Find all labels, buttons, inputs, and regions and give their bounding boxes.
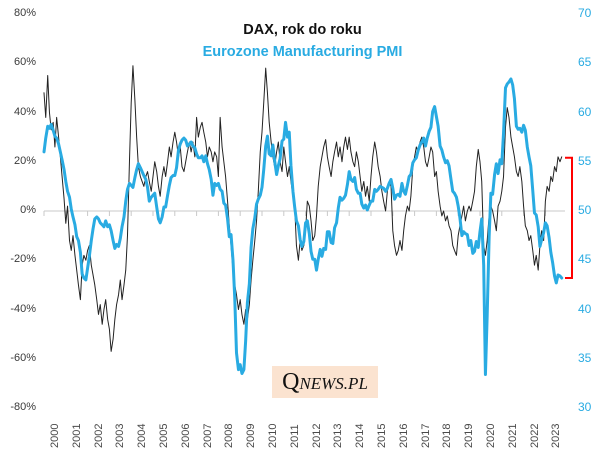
chart-container: DAX, rok do roku Eurozone Manufacturing … (0, 0, 605, 454)
x-axis-tick-label: 2015 (376, 424, 388, 448)
annotation-group (565, 158, 572, 278)
x-axis-tick-label: 2012 (311, 424, 323, 448)
y-axis-left-tick-label: 60% (0, 56, 36, 68)
x-axis-tick-label: 2000 (49, 424, 61, 448)
y-axis-right-tick-label: 40 (578, 302, 605, 316)
x-axis-tick-label: 2016 (398, 424, 410, 448)
x-axis-tick-label: 2005 (158, 424, 170, 448)
axis-group (44, 211, 565, 216)
x-axis-tick-label: 2017 (420, 424, 432, 448)
y-axis-right-tick-label: 65 (578, 55, 605, 69)
y-axis-left-tick-label: 80% (0, 7, 36, 19)
x-axis-tick-label: 2007 (202, 424, 214, 448)
red-bracket (565, 158, 572, 278)
x-axis-tick-label: 2021 (507, 424, 519, 448)
y-axis-left-tick-label: -20% (0, 253, 36, 265)
x-axis-tick-label: 2011 (289, 424, 301, 448)
y-axis-right-tick-label: 55 (578, 154, 605, 168)
x-axis-tick-label: 2020 (485, 424, 497, 448)
y-axis-left-tick-label: 40% (0, 106, 36, 118)
x-axis-tick-label: 2013 (332, 424, 344, 448)
watermark-text: QNEWS.PL (282, 369, 368, 396)
x-axis-tick-label: 2010 (267, 424, 279, 448)
y-axis-right-tick-label: 60 (578, 105, 605, 119)
y-axis-right-tick-label: 70 (578, 6, 605, 20)
x-axis-tick-label: 2008 (223, 424, 235, 448)
y-axis-left-tick-label: -60% (0, 352, 36, 364)
y-axis-left-tick-label: -80% (0, 401, 36, 413)
x-axis-tick-label: 2014 (354, 424, 366, 448)
x-axis-tick-label: 2004 (136, 424, 148, 448)
x-axis-tick-label: 2023 (550, 424, 562, 448)
y-axis-right-tick-label: 35 (578, 351, 605, 365)
y-axis-right-tick-label: 30 (578, 400, 605, 414)
x-axis-tick-label: 2022 (529, 424, 541, 448)
series-group (44, 66, 562, 375)
x-axis-tick-label: 2001 (71, 424, 83, 448)
x-axis-tick-label: 2009 (245, 424, 257, 448)
watermark-qnews: QNEWS.PL (272, 366, 378, 398)
x-axis-tick-label: 2019 (463, 424, 475, 448)
x-axis-tick-label: 2003 (114, 424, 126, 448)
y-axis-right-tick-label: 50 (578, 203, 605, 217)
x-axis-tick-label: 2018 (441, 424, 453, 448)
series-line-pmi (44, 79, 562, 375)
y-axis-left-tick-label: 0% (0, 204, 36, 216)
y-axis-left-tick-label: 20% (0, 155, 36, 167)
y-axis-right-tick-label: 45 (578, 252, 605, 266)
y-axis-left-tick-label: -40% (0, 303, 36, 315)
x-axis-tick-label: 2006 (180, 424, 192, 448)
x-axis-tick-label: 2002 (93, 424, 105, 448)
